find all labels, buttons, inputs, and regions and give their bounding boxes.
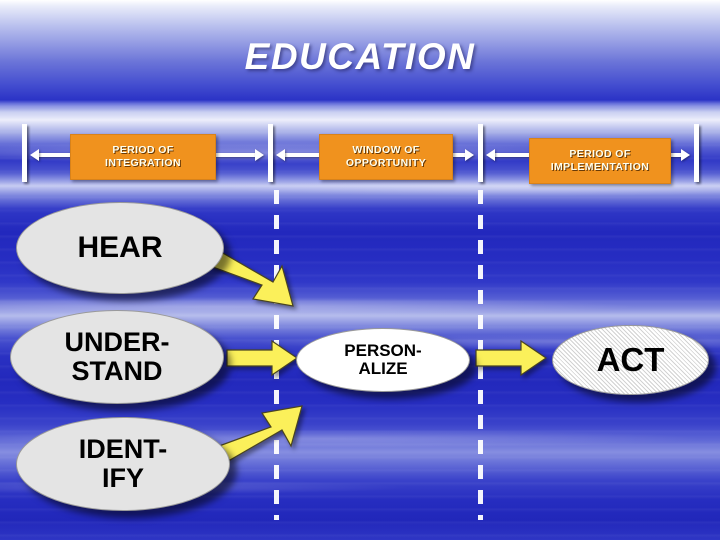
phase-box-period-of-implementation[interactable]: PERIOD OF IMPLEMENTATION: [529, 138, 671, 184]
node-act-label: ACT: [597, 342, 665, 378]
node-act[interactable]: ACT: [552, 325, 709, 395]
phase-line-2: IMPLEMENTATION: [551, 161, 650, 173]
node-hear[interactable]: HEAR: [16, 202, 224, 294]
arrow-personalize-to-act: [476, 341, 548, 375]
node-understand[interactable]: UNDER- STAND: [10, 310, 224, 404]
phase-box-text: PERIOD OF INTEGRATION: [105, 144, 181, 171]
slide-canvas: EDUCATION PERIOD OF INTEGRATION WINDOW O…: [0, 0, 720, 540]
phase-line-2: OPPORTUNITY: [346, 157, 426, 169]
phase-line-2: INTEGRATION: [105, 157, 181, 169]
node-label-line-1: UNDER-: [65, 327, 170, 357]
node-label-line-1: ACT: [597, 341, 665, 378]
arrow-head-left-icon: [486, 149, 495, 161]
arrow-head-right-icon: [255, 149, 264, 161]
arrow-understand-to-personalize: [227, 341, 299, 375]
node-identify[interactable]: IDENT- IFY: [16, 417, 230, 511]
node-label-line-1: PERSON-: [344, 341, 421, 360]
phase-box-text: PERIOD OF IMPLEMENTATION: [551, 148, 650, 175]
arrow-head-right-icon: [465, 149, 474, 161]
node-label-line-2: STAND: [72, 356, 163, 386]
phase-line-1: PERIOD OF: [112, 144, 173, 156]
phase-line-1: WINDOW OF: [352, 144, 419, 156]
node-label-line-1: IDENT-: [79, 434, 168, 464]
node-label-line-2: ALIZE: [358, 359, 407, 378]
timeline-tick-4: [694, 124, 699, 182]
phase-line-1: PERIOD OF: [569, 148, 630, 160]
node-personalize[interactable]: PERSON- ALIZE: [296, 328, 470, 392]
node-understand-label: UNDER- STAND: [65, 328, 170, 386]
arrow-identify-to-personalize: [214, 398, 309, 460]
slide-title: EDUCATION: [0, 36, 720, 78]
phase-box-window-of-opportunity[interactable]: WINDOW OF OPPORTUNITY: [319, 134, 453, 180]
arrow-head-left-icon: [276, 149, 285, 161]
phase-box-text: WINDOW OF OPPORTUNITY: [346, 144, 426, 171]
timeline-tick-1: [22, 124, 27, 182]
node-identify-label: IDENT- IFY: [79, 435, 168, 493]
timeline-tick-3: [478, 124, 483, 182]
arrow-head-right-icon: [681, 149, 690, 161]
node-hear-label: HEAR: [77, 232, 162, 264]
arrow-head-left-icon: [30, 149, 39, 161]
phase-box-period-of-integration[interactable]: PERIOD OF INTEGRATION: [70, 134, 216, 180]
node-label-line-1: HEAR: [77, 231, 162, 264]
timeline-tick-2: [268, 124, 273, 182]
node-label-line-2: IFY: [102, 463, 144, 493]
node-personalize-label: PERSON- ALIZE: [344, 342, 421, 379]
